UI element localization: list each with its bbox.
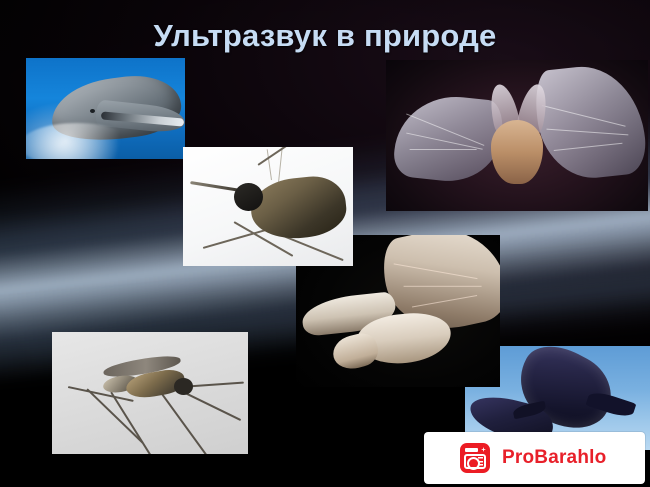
- wing-vein: [547, 129, 629, 136]
- watermark-probarahlo: ProBarahlo: [424, 432, 645, 484]
- mosquito-head-shape: [174, 378, 194, 395]
- photo-bat-wings-spread: [386, 60, 648, 211]
- wing-vein: [553, 143, 622, 151]
- mosquito-proboscis: [190, 181, 241, 192]
- bat-head-shape: [329, 330, 381, 373]
- camera-top-bar: [465, 448, 478, 452]
- wing-vein: [403, 286, 481, 287]
- photo-mosquito-closeup: [183, 147, 353, 266]
- mosquito-leg: [110, 391, 162, 454]
- mosquito-body-shape: [248, 173, 349, 242]
- bat-body-shape: [491, 120, 543, 183]
- bat-left-wing-shape: [392, 91, 505, 186]
- photo-dolphin-head: [26, 58, 185, 159]
- camera-controls: [478, 457, 483, 466]
- camera-icon: [460, 443, 490, 473]
- slide-title: Ультразвук в природе: [0, 18, 650, 54]
- wing-vein: [412, 295, 477, 307]
- photo-mosquito-gray-background: [52, 332, 248, 454]
- dolphin-eye-shape: [90, 109, 95, 113]
- wing-vein: [393, 263, 477, 279]
- wing-vein: [410, 150, 477, 151]
- presentation-slide: Ультразвук в природе: [0, 0, 650, 487]
- mosquito-antenna: [278, 147, 283, 183]
- bat-right-wing-shape: [532, 61, 648, 183]
- camera-flash-sparkle: [481, 447, 486, 452]
- watermark-label: ProBarahlo: [502, 447, 606, 469]
- wing-vein: [542, 105, 626, 127]
- mosquito-head-shape: [234, 183, 263, 212]
